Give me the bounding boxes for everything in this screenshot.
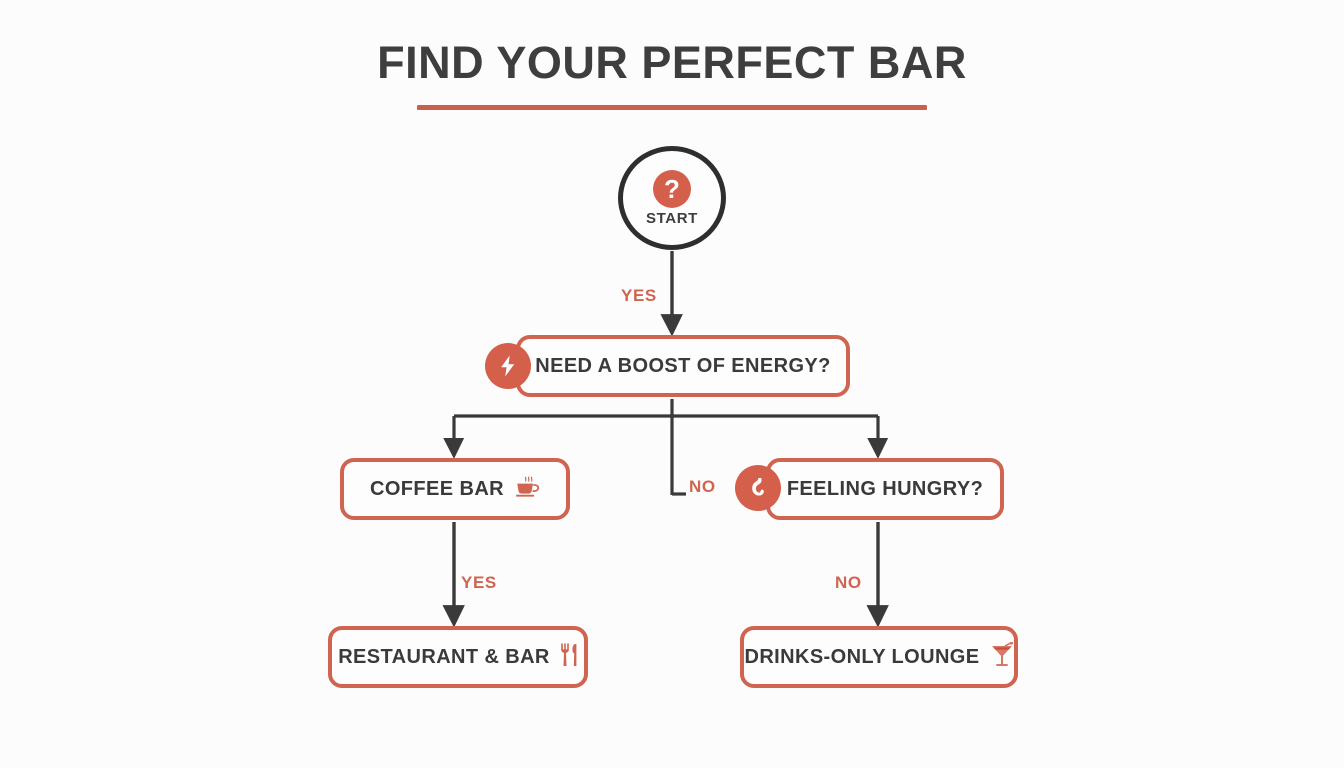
flowchart-canvas: FIND YOUR PERFECT BAR ? START — [0, 0, 1344, 768]
node-hungry-label: FEELING HUNGRY? — [787, 478, 983, 501]
edge-label-energy-no: NO — [689, 477, 716, 497]
edge-label-hungry-to-drinks: NO — [835, 573, 862, 593]
node-drinks-label: DRINKS-ONLY LOUNGE — [744, 646, 979, 669]
node-energy-label: NEED A BOOST OF ENERGY? — [535, 355, 831, 378]
fork-knife-icon — [560, 643, 578, 671]
node-restaurant-and-bar[interactable]: RESTAURANT & BAR — [328, 626, 588, 688]
title-block: FIND YOUR PERFECT BAR — [0, 40, 1344, 110]
node-need-a-boost-of-energy[interactable]: NEED A BOOST OF ENERGY? — [516, 335, 850, 397]
cocktail-glass-icon — [990, 642, 1014, 672]
edge-label-coffee-to-restaurant: YES — [461, 573, 497, 593]
lightning-bolt-icon — [485, 343, 531, 389]
node-feeling-hungry[interactable]: FEELING HUNGRY? — [766, 458, 1004, 520]
title-underline — [417, 105, 927, 110]
page-title: FIND YOUR PERFECT BAR — [0, 40, 1344, 85]
node-drinks-only-lounge[interactable]: DRINKS-ONLY LOUNGE — [740, 626, 1018, 688]
node-coffee-label: COFFEE BAR — [370, 478, 504, 501]
coffee-cup-icon — [514, 476, 540, 502]
question-mark-icon: ? — [653, 170, 691, 208]
edge-label-start-to-energy: YES — [621, 286, 657, 306]
node-coffee-bar[interactable]: COFFEE BAR — [340, 458, 570, 520]
start-node[interactable]: ? START — [618, 146, 726, 250]
stomach-icon — [735, 465, 781, 511]
start-node-label: START — [646, 210, 698, 227]
node-restaurant-label: RESTAURANT & BAR — [338, 646, 550, 669]
